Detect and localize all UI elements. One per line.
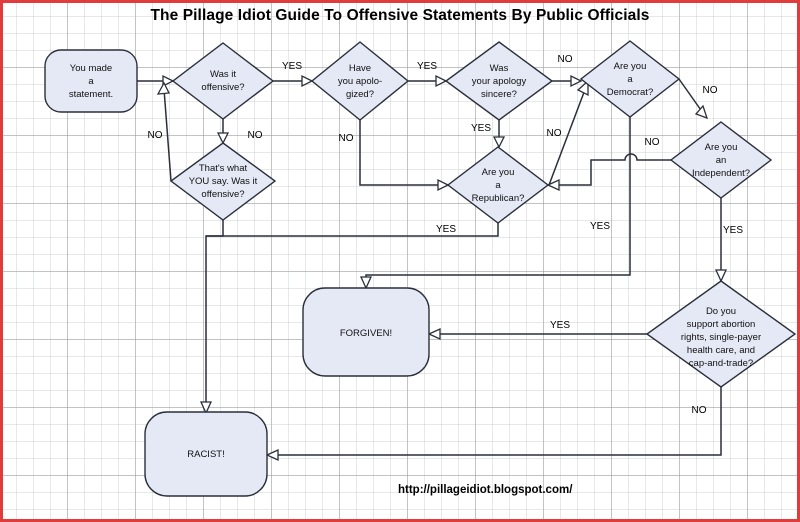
edge-independent-to-republican: [554, 154, 671, 185]
node-are-you-a-democrat[interactable]: Are you a Democrat?: [581, 41, 679, 117]
republican-label-line2: a: [495, 180, 501, 191]
edge-label-support-no: NO: [692, 405, 707, 416]
edge-label-offensive-no: NO: [248, 130, 263, 141]
democrat-label-line1: Are you: [614, 61, 647, 72]
edge-label-support-yes: YES: [550, 320, 570, 331]
node-do-you-support[interactable]: Do you support abortion rights, single-p…: [647, 281, 795, 387]
offensive-shape: [173, 43, 273, 119]
sincere-label-line2: your apology: [472, 76, 527, 87]
independent-label-line2: an: [716, 155, 727, 166]
arrowhead-independent-upper-left: [696, 106, 707, 118]
arrowhead-democrat-left: [571, 76, 581, 86]
republican-label-line3: Republican?: [472, 193, 525, 204]
node-forgiven[interactable]: FORGIVEN!: [303, 288, 429, 376]
node-are-you-a-republican[interactable]: Are you a Republican?: [448, 147, 548, 223]
yousay-label-line1: That's what: [199, 163, 248, 174]
start-label-line1: You made: [70, 63, 112, 74]
offensive-label-line1: Was it: [210, 69, 236, 80]
arrowhead-support-top: [716, 270, 726, 281]
forgiven-label: FORGIVEN!: [340, 328, 392, 339]
edge-apologized-to-republican: [360, 120, 442, 185]
edge-label-democrat-yes: YES: [590, 221, 610, 232]
node-was-your-apology-sincere[interactable]: Was your apology sincere?: [446, 42, 552, 120]
arrowhead-apologized-left: [302, 76, 312, 86]
edge-label-independent-no: NO: [645, 137, 660, 148]
sincere-label-line1: Was: [490, 63, 509, 74]
source-url[interactable]: http://pillageidiot.blogspot.com/: [398, 484, 572, 496]
democrat-label-line3: Democrat?: [607, 87, 653, 98]
edge-support-to-racist: [273, 387, 721, 455]
edge-label-republican-no: NO: [547, 128, 562, 139]
arrowhead-sincere-left: [436, 76, 446, 86]
node-thats-what-you-say[interactable]: That's what YOU say. Was it offensive?: [171, 143, 275, 220]
apologized-label-line3: gized?: [346, 89, 374, 100]
offensive-label-line2: offensive?: [201, 82, 244, 93]
edge-label-democrat-no: NO: [703, 85, 718, 96]
edge-democrat-to-independent: [679, 79, 703, 113]
edge-label-offensive-yes: YES: [282, 61, 302, 72]
arrowhead-offensive-loopback: [158, 83, 169, 94]
independent-label-line1: Are you: [705, 142, 738, 153]
democrat-label-line2: a: [627, 74, 633, 85]
edge-layer: [137, 76, 726, 460]
node-layer: You made a statement. Was it offensive? …: [45, 41, 795, 496]
edge-label-sincere-no: NO: [558, 54, 573, 65]
independent-label-line3: Independent?: [692, 168, 750, 179]
yousay-label-line2: YOU say. Was it: [189, 176, 258, 187]
arrowhead-yousay-top: [218, 133, 228, 143]
edge-label-sincere-yes: YES: [471, 123, 491, 134]
racist-label: RACIST!: [187, 449, 224, 460]
flowchart-page: The Pillage Idiot Guide To Offensive Sta…: [0, 0, 800, 522]
start-label-line3: statement.: [69, 89, 113, 100]
yousay-label-line3: offensive?: [201, 189, 244, 200]
support-label-line2: support abortion: [687, 319, 756, 330]
node-are-you-an-independent[interactable]: Are you an Independent?: [671, 122, 771, 198]
edge-label-apologized-yes: YES: [417, 61, 437, 72]
support-label-line1: Do you: [706, 306, 736, 317]
arrowhead-racist-right: [267, 450, 278, 460]
sincere-label-line3: sincere?: [481, 89, 517, 100]
arrowhead-forgiven-right: [429, 329, 440, 339]
node-have-you-apologized[interactable]: Have you apolo- gized?: [312, 42, 408, 120]
edge-label-independent-yes: YES: [723, 225, 743, 236]
edge-yousay-to-racist: [206, 220, 223, 407]
node-racist[interactable]: RACIST!: [145, 412, 267, 496]
support-label-line3: rights, single-payer: [681, 332, 761, 343]
flowchart-canvas: YES NO NO YES NO NO YES YES NO YES NO NO…: [3, 3, 800, 522]
arrowhead-forgiven-top: [361, 277, 371, 288]
arrowhead-republican-top: [494, 137, 504, 147]
edge-label-republican-yes: YES: [436, 224, 456, 235]
apologized-label-line1: Have: [349, 63, 371, 74]
node-was-it-offensive[interactable]: Was it offensive?: [173, 43, 273, 119]
edge-yousay-to-offensive: [164, 89, 171, 181]
republican-label-line1: Are you: [482, 167, 515, 178]
edge-label-apologized-no: NO: [339, 133, 354, 144]
apologized-label-line2: you apolo-: [338, 76, 382, 87]
start-label-line2: a: [88, 76, 94, 87]
arrowhead-republican-left: [438, 180, 448, 190]
support-label-line5: cap-and-trade?: [689, 358, 753, 369]
support-label-line4: health care, and: [687, 345, 755, 356]
node-start[interactable]: You made a statement.: [45, 50, 137, 112]
edge-label-yousay-no: NO: [148, 130, 163, 141]
